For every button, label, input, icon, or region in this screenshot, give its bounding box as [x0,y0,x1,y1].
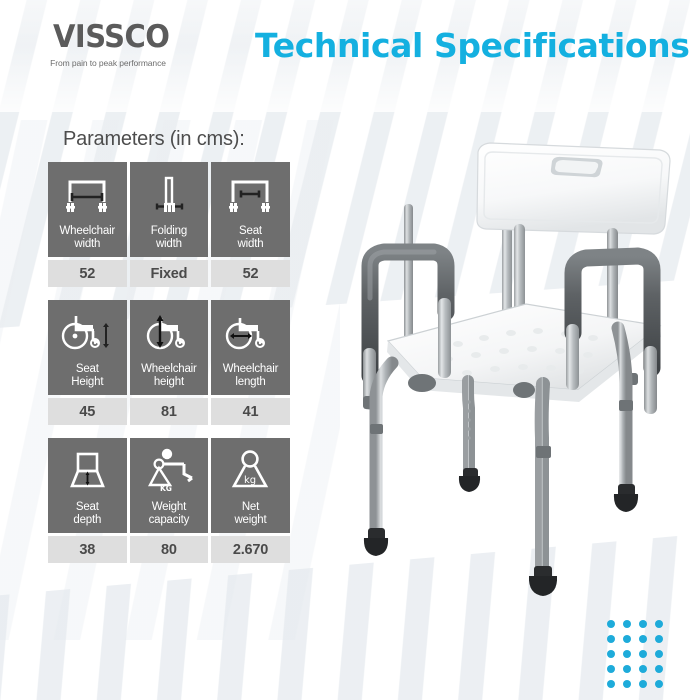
dot [639,665,647,673]
spec-cell-wheelchair-length: Wheelchair length [211,300,290,395]
spec-label: Wheelchair width [60,225,116,250]
spec-value-row: 52 Fixed 52 [48,260,290,287]
product-photo-shower-chair [330,128,690,600]
spec-label-line1: Weight [152,501,186,513]
spec-label-line1: Wheelchair [60,225,116,237]
spec-label-line1: Seat [76,363,99,375]
wheelchair-height-icon [130,300,209,363]
spec-label-line2: height [154,376,184,388]
folding-width-icon [130,162,209,225]
spec-cell-wheelchair-height: Wheelchair height [130,300,209,395]
spec-cell-seat-depth: Seat depth [48,438,127,533]
dot [623,650,631,658]
brand-tagline: From pain to peak performance [28,58,188,68]
spec-group: Wheelchair width [48,162,290,287]
spec-label: Seat width [238,225,264,250]
spec-label-line1: Seat [239,225,262,237]
dot [607,620,615,628]
spec-label-line2: depth [73,514,101,526]
spec-label-line2: capacity [149,514,190,526]
weight-capacity-icon: KG [130,438,209,501]
page-title: Technical Specifications: [255,26,690,65]
spec-label: Folding width [151,225,187,250]
dot [623,680,631,688]
spec-cell-seat-width: Seat width [211,162,290,257]
dot [655,620,663,628]
spec-label: Net weight [234,501,266,526]
dot [607,635,615,643]
spec-value: 81 [130,398,209,425]
wheelchair-width-icon [48,162,127,225]
spec-value: 2.670 [211,536,290,563]
seat-width-icon [211,162,290,225]
parameters-heading: Parameters (in cms): [63,128,245,151]
spec-value: 41 [211,398,290,425]
dot [623,635,631,643]
spec-label: Weight capacity [149,501,190,526]
spec-group: Seat depth KG [48,438,290,563]
dot [623,620,631,628]
svg-text:KG: KG [160,484,172,493]
spec-label-line2: weight [234,514,266,526]
dot [639,680,647,688]
spec-label: Seat Height [71,363,103,388]
spec-cell-wheelchair-width: Wheelchair width [48,162,127,257]
spec-label-line1: Wheelchair [223,363,279,375]
dot [607,680,615,688]
dot [607,665,615,673]
spec-value: 38 [48,536,127,563]
spec-label-line1: Seat [76,501,99,513]
spec-value: 45 [48,398,127,425]
dot [639,635,647,643]
spec-value: 52 [211,260,290,287]
specifications-table: Wheelchair width [48,162,290,576]
dot [639,650,647,658]
spec-label-line2: width [156,238,182,250]
brand-name: VISSCO [28,22,194,53]
net-weight-icon: kg [211,438,290,501]
spec-value: Fixed [130,260,209,287]
svg-text:kg: kg [244,475,256,486]
spec-label: Seat depth [73,501,101,526]
wheelchair-length-icon [211,300,290,363]
spec-cell-net-weight: kg Net weight [211,438,290,533]
spec-label-line2: width [238,238,264,250]
dot [655,665,663,673]
seat-depth-icon [48,438,127,501]
spec-value-row: 45 81 41 [48,398,290,425]
spec-label: Wheelchair length [223,363,279,388]
dot [655,650,663,658]
seat-height-icon [48,300,127,363]
spec-value: 52 [48,260,127,287]
spec-header-row: Seat Height [48,300,290,395]
spec-label-line1: Net [242,501,259,513]
spec-cell-folding-width: Folding width [130,162,209,257]
decorative-dot-grid [607,620,671,695]
dot [623,665,631,673]
spec-value: 80 [130,536,209,563]
spec-label-line2: width [74,238,100,250]
spec-label-line1: Folding [151,225,187,237]
spec-header-row: Seat depth KG [48,438,290,533]
spec-value-row: 38 80 2.670 [48,536,290,563]
dot [639,620,647,628]
spec-group: Seat Height [48,300,290,425]
spec-label-line2: length [235,376,265,388]
dot [607,650,615,658]
spec-label-line2: Height [71,376,103,388]
spec-label: Wheelchair height [141,363,197,388]
spec-label-line1: Wheelchair [141,363,197,375]
spec-cell-seat-height: Seat Height [48,300,127,395]
dot [655,680,663,688]
page-root: VISSCO From pain to peak performance Tec… [0,0,690,700]
spec-header-row: Wheelchair width [48,162,290,257]
dot [655,635,663,643]
brand-logo: VISSCO From pain to peak performance [28,22,188,68]
spec-cell-weight-capacity: KG Weight capacity [130,438,209,533]
